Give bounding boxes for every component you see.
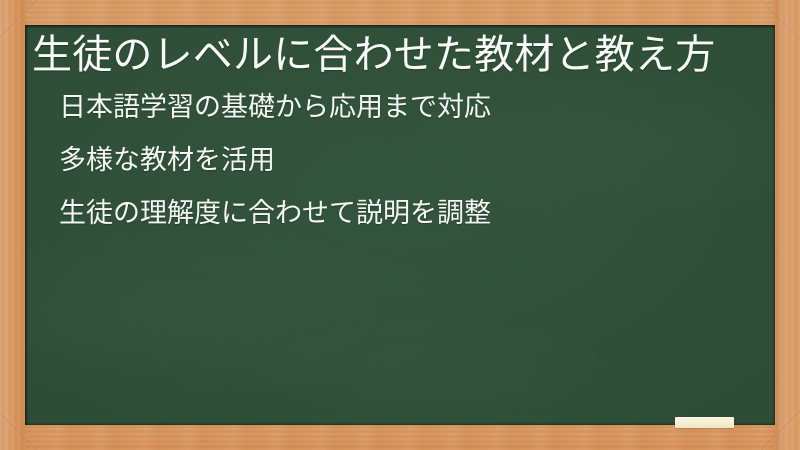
blackboard-slide: 生徒のレベルに合わせた教材と教え方 日本語学習の基礎から応用まで対応 多様な教材… [0,0,800,450]
bullet-item-1: 日本語学習の基礎から応用まで対応 [59,94,765,121]
bullet-item-2: 多様な教材を活用 [59,147,765,174]
frame-right-stile [774,0,800,450]
bullet-list: 日本語学習の基礎から応用まで対応 多様な教材を活用 生徒の理解度に合わせて説明を… [32,94,765,227]
bullet-item-3: 生徒の理解度に合わせて説明を調整 [59,200,765,227]
wood-grain-texture [0,0,26,450]
slide-title: 生徒のレベルに合わせた教材と教え方 [32,31,765,80]
chalkboard-surface: 生徒のレベルに合わせた教材と教え方 日本語学習の基礎から応用まで対応 多様な教材… [25,25,775,425]
chalk-stick [675,417,734,428]
frame-bottom-ledge [0,425,800,450]
frame-top-rail [0,0,800,26]
wood-grain-texture [0,425,800,450]
frame-left-stile [0,0,26,450]
wood-grain-texture [0,0,800,26]
board-content: 生徒のレベルに合わせた教材と教え方 日本語学習の基礎から応用まで対応 多様な教材… [25,25,775,425]
wood-grain-texture [774,0,800,450]
